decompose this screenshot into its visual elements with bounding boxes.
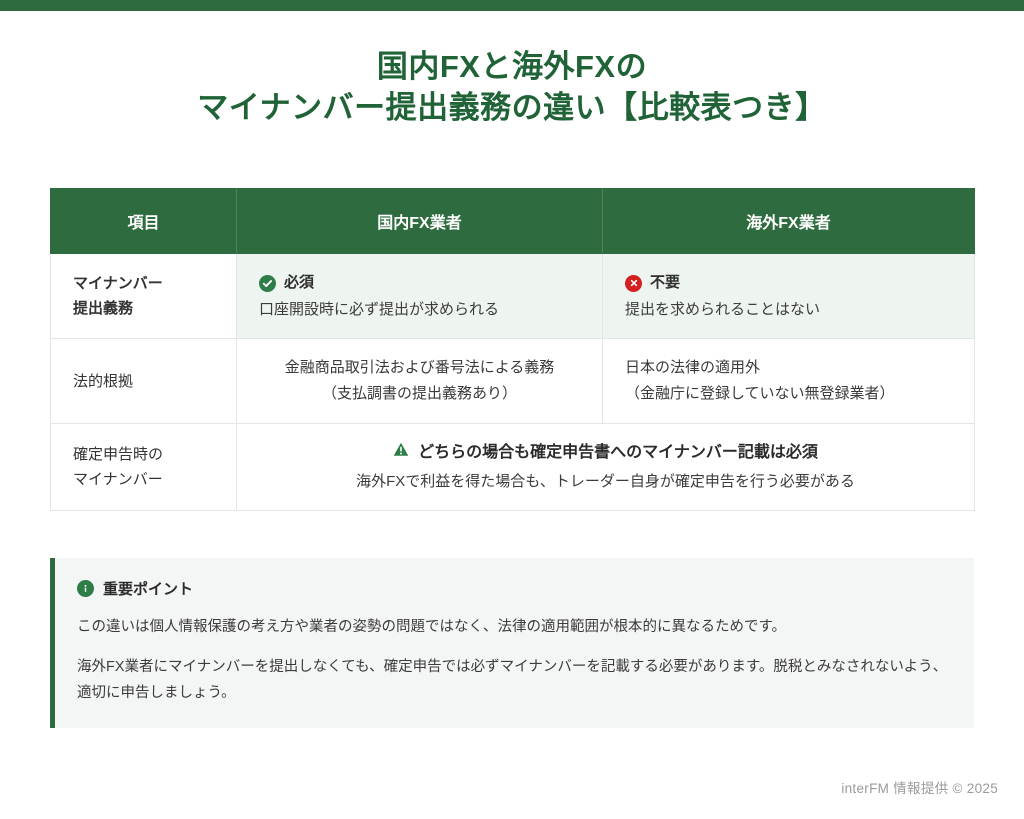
table-body: マイナンバー 提出義務 必須 口座開設時に必ず提出が求められる [51, 254, 975, 511]
status-overseas-notrequired: 不要 [625, 270, 952, 296]
table-row: 確定申告時の マイナンバー どちらの場合も確定申告書へのマイナンバー記載は必須 [51, 424, 975, 511]
row-label-tax-return-mynumber: 確定申告時の マイナンバー [51, 424, 237, 511]
cell-text-line-1: 金融商品取引法および番号法による義務 [259, 355, 580, 381]
top-accent-bar [0, 0, 1024, 11]
x-circle-icon [625, 275, 642, 292]
page-title-line-2: マイナンバー提出義務の違い【比較表つき】 [0, 87, 1024, 128]
status-overseas-label: 不要 [650, 270, 680, 296]
row-label-line-2: マイナンバー [73, 471, 163, 488]
page-title: 国内FXと海外FXの マイナンバー提出義務の違い【比較表つき】 [0, 46, 1024, 128]
status-domestic-required: 必須 [259, 270, 580, 296]
row-label-line-1: 確定申告時の [73, 446, 163, 463]
table-header-row: 項目 国内FX業者 海外FX業者 [51, 189, 975, 254]
comparison-table-container: 項目 国内FX業者 海外FX業者 マイナンバー 提出義務 [50, 188, 974, 511]
footer-credit: interFM 情報提供 © 2025 [841, 777, 998, 797]
row-label-mynumber-duty: マイナンバー 提出義務 [51, 254, 237, 339]
status-overseas-desc: 提出を求められることはない [625, 298, 952, 322]
cell-merged-tax-return-note: どちらの場合も確定申告書へのマイナンバー記載は必須 海外FXで利益を得た場合も、… [237, 424, 975, 511]
row-label-line-1: マイナンバー [73, 275, 163, 292]
column-header-domestic: 国内FX業者 [237, 189, 603, 254]
check-circle-icon [259, 275, 276, 292]
cell-domestic-legal-basis: 金融商品取引法および番号法による義務 （支払調書の提出義務あり） [237, 339, 603, 424]
table-header: 項目 国内FX業者 海外FX業者 [51, 189, 975, 254]
important-point-callout: 重要ポイント この違いは個人情報保護の考え方や業者の姿勢の問題ではなく、法律の適… [50, 558, 974, 728]
merged-subtext: 海外FXで利益を得た場合も、トレーダー自身が確定申告を行う必要がある [259, 470, 952, 494]
status-domestic-desc: 口座開設時に必ず提出が求められる [259, 298, 580, 322]
column-header-overseas: 海外FX業者 [603, 189, 975, 254]
status-domestic-label: 必須 [284, 270, 314, 296]
note-paragraph-2: 海外FX業者にマイナンバーを提出しなくても、確定申告では必ずマイナンバーを記載す… [77, 654, 950, 706]
note-title-text: 重要ポイント [103, 578, 193, 599]
merged-headline-text: どちらの場合も確定申告書へのマイナンバー記載は必須 [418, 440, 818, 466]
cell-text-line-2: （支払調書の提出義務あり） [259, 381, 580, 407]
merged-headline: どちらの場合も確定申告書へのマイナンバー記載は必須 [259, 440, 952, 466]
note-paragraph-1: この違いは個人情報保護の考え方や業者の姿勢の問題ではなく、法律の適用範囲が根本的… [77, 614, 950, 640]
cell-domestic-mynumber-duty: 必須 口座開設時に必ず提出が求められる [237, 254, 603, 339]
note-title-row: 重要ポイント [77, 578, 950, 599]
row-label-line-2: 提出義務 [73, 300, 133, 317]
page-title-line-1: 国内FXと海外FXの [0, 46, 1024, 87]
cell-overseas-mynumber-duty: 不要 提出を求められることはない [603, 254, 975, 339]
table-row: マイナンバー 提出義務 必須 口座開設時に必ず提出が求められる [51, 254, 975, 339]
comparison-table: 項目 国内FX業者 海外FX業者 マイナンバー 提出義務 [50, 188, 975, 511]
row-label-legal-basis: 法的根拠 [51, 339, 237, 424]
cell-text-line-2: （金融庁に登録していない無登録業者） [625, 381, 952, 407]
table-row: 法的根拠 金融商品取引法および番号法による義務 （支払調書の提出義務あり） 日本… [51, 339, 975, 424]
warning-triangle-icon [393, 440, 409, 466]
column-header-item: 項目 [51, 189, 237, 254]
cell-overseas-legal-basis: 日本の法律の適用外 （金融庁に登録していない無登録業者） [603, 339, 975, 424]
cell-text-line-1: 日本の法律の適用外 [625, 355, 952, 381]
info-circle-icon [77, 580, 94, 597]
